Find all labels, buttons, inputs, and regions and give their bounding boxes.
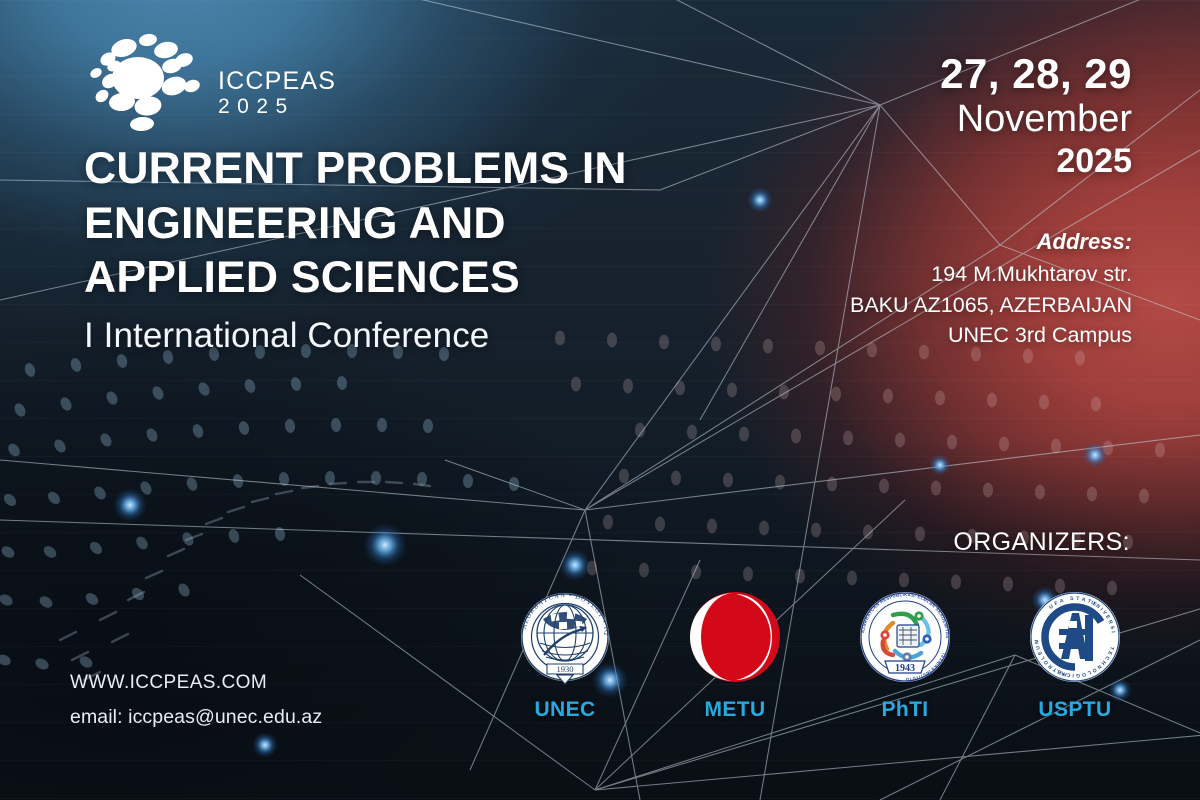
organizer-name-usptu: USPTU	[1038, 698, 1111, 722]
event-date: 27, 28, 29 November 2025	[940, 52, 1132, 180]
organizer-usptu[interactable]: UFA STATE TECHNOLOGICAL UNIVERSITY PETRO…	[1010, 585, 1140, 722]
organizer-name-phti: PhTI	[881, 698, 928, 722]
title-line-3: APPLIED SCIENCES	[84, 251, 724, 306]
contact-info: WWW.ICCPEAS.COM email: iccpeas@unec.edu.…	[70, 672, 322, 729]
event-date-month: November	[940, 98, 1132, 141]
brand-logo: ICCPEAS 2025	[86, 26, 336, 138]
svg-text:1930: 1930	[557, 664, 574, 674]
event-date-year: 2025	[940, 143, 1132, 180]
page-subtitle: I International Conference	[84, 316, 724, 356]
address-label: Address:	[850, 226, 1132, 257]
contact-website[interactable]: WWW.ICCPEAS.COM	[70, 672, 322, 694]
phti-atom-seal-icon: AZƏRBAYCAN RESPUBLIKASI ELMLƏR AKADEMIYA…	[853, 585, 957, 689]
contact-email[interactable]: email: iccpeas@unec.edu.az	[70, 706, 322, 729]
conference-poster: ICCPEAS 2025 CURRENT PROBLEMS IN ENGINEE…	[0, 0, 1200, 800]
organizers-row: AZƏRBAYCAN • DÖVLƏT • IQTISAD • UNIVERSI…	[500, 585, 1140, 722]
address-line-1: 194 M.Mukhtarov str.	[850, 259, 1132, 290]
title-line-2: ENGINEERING AND	[84, 197, 724, 252]
event-date-days: 27, 28, 29	[940, 52, 1132, 97]
metu-red-circle-icon	[683, 585, 787, 689]
svg-text:1943: 1943	[895, 663, 915, 674]
organizer-name-metu: METU	[704, 698, 765, 722]
organizer-phti[interactable]: AZƏRBAYCAN RESPUBLIKASI ELMLƏR AKADEMIYA…	[840, 585, 970, 722]
brand-text: ICCPEAS 2025	[218, 46, 336, 119]
brand-name: ICCPEAS	[218, 68, 336, 95]
event-address: Address: 194 M.Mukhtarov str. BAKU AZ106…	[850, 226, 1132, 351]
organizer-unec[interactable]: AZƏRBAYCAN • DÖVLƏT • IQTISAD • UNIVERSI…	[500, 585, 630, 722]
organizer-name-unec: UNEC	[534, 698, 595, 722]
title-line-1: CURRENT PROBLEMS IN	[84, 142, 724, 197]
brand-year: 2025	[218, 96, 336, 119]
organizers-label: ORGANIZERS:	[953, 528, 1130, 557]
bubble-cluster-icon	[86, 26, 204, 138]
page-title: CURRENT PROBLEMS IN ENGINEERING AND APPL…	[84, 142, 724, 356]
organizer-metu[interactable]: METU	[670, 585, 800, 722]
address-line-2: BAKU AZ1065, AZERBAIJAN	[850, 290, 1132, 321]
usptu-derrick-seal-icon: UFA STATE TECHNOLOGICAL UNIVERSITY PETRO…	[1023, 585, 1127, 689]
unec-globe-seal-icon: AZƏRBAYCAN • DÖVLƏT • IQTISAD • UNIVERSI…	[513, 585, 617, 689]
address-line-3: UNEC 3rd Campus	[850, 320, 1132, 351]
